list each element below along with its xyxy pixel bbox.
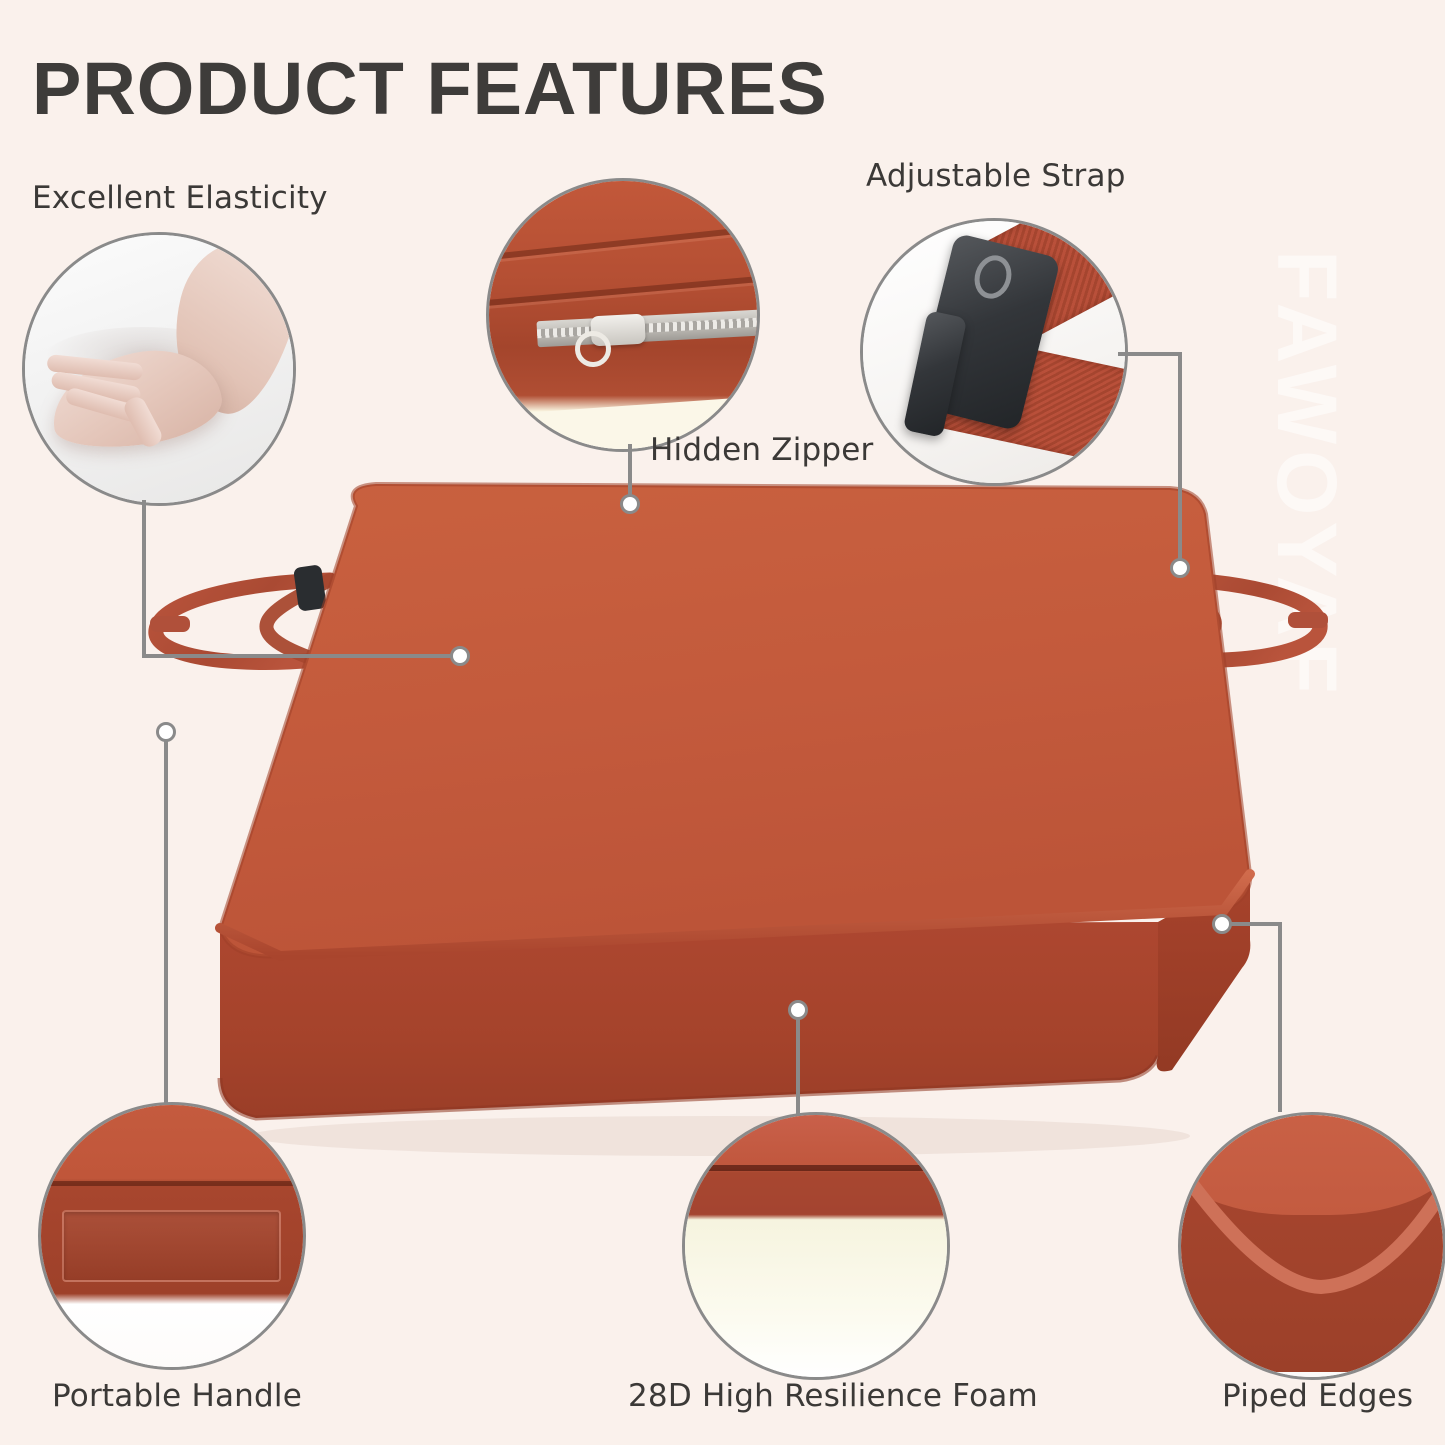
callout-dot-strap (1170, 558, 1190, 578)
foam-cover-seam-graphic (682, 1165, 950, 1171)
leader-line-handle-v (164, 730, 168, 1112)
callout-label-piped-edges: Piped Edges (1222, 1378, 1413, 1414)
callout-dot-foam (788, 1000, 808, 1020)
leader-line-piped-h (1230, 922, 1282, 926)
piped-cord-graphic (1181, 1115, 1443, 1377)
leader-line-strap-h (1118, 352, 1182, 356)
handle-strap-graphic (62, 1210, 281, 1282)
inset-excellent-elasticity (22, 232, 296, 506)
callout-dot-zipper (620, 494, 640, 514)
left-carry-handle (150, 564, 330, 662)
inset-piped-edges (1178, 1112, 1445, 1380)
callout-dot-handle (156, 722, 176, 742)
callout-label-adjustable-strap: Adjustable Strap (866, 158, 1126, 194)
foam-cross-section-graphic (685, 1115, 947, 1377)
callout-label-excellent-elasticity: Excellent Elasticity (32, 180, 328, 216)
callout-label-hidden-zipper: Hidden Zipper (650, 432, 873, 468)
zipper-teeth-graphic (537, 317, 760, 339)
leader-line-elasticity-v (142, 500, 146, 658)
leader-line-piped-v (1278, 922, 1282, 1112)
leader-line-foam-v (796, 1008, 800, 1118)
callout-label-portable-handle: Portable Handle (52, 1378, 302, 1414)
callout-dot-elasticity (450, 646, 470, 666)
inset-high-resilience-foam (682, 1112, 950, 1380)
infographic-canvas: FAWOYAF PRODUCT FEATURES (0, 0, 1445, 1445)
product-cushion-illustration (120, 470, 1350, 1160)
callout-label-high-resilience-foam: 28D High Resilience Foam (628, 1378, 1038, 1414)
cushion-top-face (220, 484, 1250, 956)
inset-portable-handle (38, 1102, 306, 1370)
inset-adjustable-strap (860, 218, 1128, 486)
leader-line-strap-v (1178, 352, 1182, 568)
leader-line-elasticity-h (142, 654, 458, 658)
page-title: PRODUCT FEATURES (32, 52, 828, 126)
inset-hidden-zipper (486, 178, 760, 452)
callout-dot-piped (1212, 914, 1232, 934)
handle-seam-graphic (38, 1181, 306, 1186)
